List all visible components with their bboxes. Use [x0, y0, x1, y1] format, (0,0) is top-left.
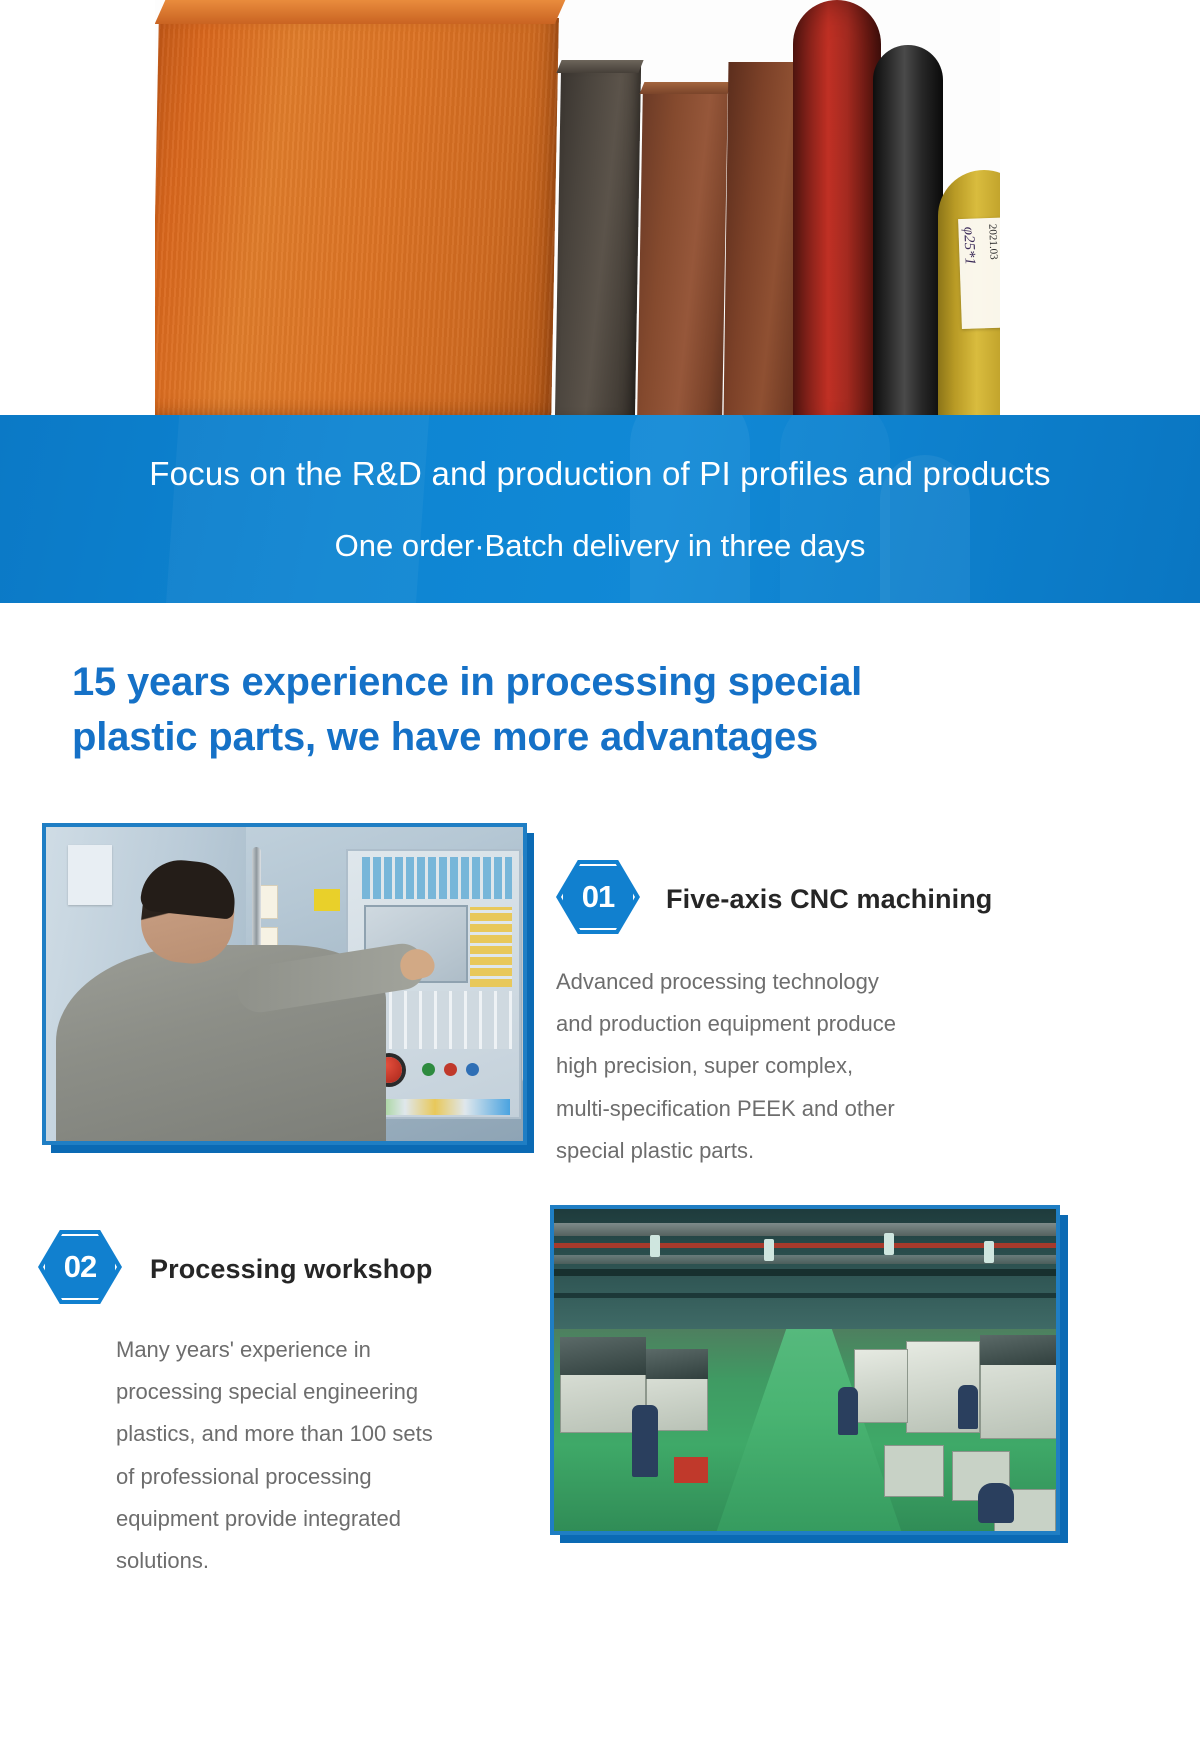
feature-01-header: 01 Five-axis CNC machining [556, 860, 1068, 939]
ceiling-light [984, 1241, 994, 1263]
worker-figure [838, 1387, 858, 1435]
banner-headline: Focus on the R&D and production of PI pr… [0, 455, 1200, 493]
worker-figure [632, 1405, 658, 1477]
feature-02-line: processing special engineering [116, 1371, 538, 1413]
feature-01-description: Advanced processing technology and produ… [556, 961, 1068, 1172]
feature-01-photo [42, 823, 527, 1145]
cnc-keypad-right [470, 907, 512, 987]
ceiling-duct [554, 1255, 1056, 1264]
feature-02-text-block: 02 Processing workshop Many years' exper… [38, 1230, 538, 1582]
banner-ghost-shape [780, 415, 890, 603]
rod-label-spec: φ25*1 [959, 226, 977, 265]
feature-01-line: and production equipment produce [556, 1003, 1068, 1045]
black-rod [873, 45, 943, 430]
ceiling-light [884, 1233, 894, 1255]
cnc-green-button [422, 1063, 435, 1076]
orange-phenolic-sheet [155, 18, 559, 418]
cnc-machine-top [646, 1349, 708, 1379]
page-title-line-1: 15 years experience in processing specia… [72, 655, 1082, 710]
cnc-door-handle [522, 853, 527, 1083]
hero-product-photo: 2021.03 φ25*1 [155, 0, 1000, 430]
orange-sheet-top-edge [155, 0, 565, 24]
cnc-machine-top [980, 1335, 1060, 1365]
feature-02-header: 02 Processing workshop [38, 1230, 538, 1309]
ceiling-light [650, 1235, 660, 1257]
page-title: 15 years experience in processing specia… [72, 655, 1082, 765]
feature-02-line: solutions. [116, 1540, 538, 1582]
brown-sheet [637, 88, 728, 418]
feature-01-line: special plastic parts. [556, 1130, 1068, 1172]
ceiling-duct [554, 1223, 1056, 1236]
red-tool-cart [674, 1457, 708, 1483]
banner-subline: One order·Batch delivery in three days [0, 528, 1200, 564]
cnc-blue-button [466, 1063, 479, 1076]
ceiling-beam [554, 1293, 1056, 1298]
feature-01-badge: 01 [556, 860, 640, 939]
feature-01-title: Five-axis CNC machining [666, 884, 992, 915]
slogan-banner: Focus on the R&D and production of PI pr… [0, 415, 1200, 603]
feature-01-number: 01 [556, 860, 640, 934]
rod-label-code: 2021.03 [986, 224, 999, 260]
feature-02-title: Processing workshop [150, 1254, 432, 1285]
worker-figure [978, 1483, 1014, 1523]
cnc-red-button [444, 1063, 457, 1076]
cnc-keypad-top [362, 857, 512, 899]
ceiling-light [764, 1239, 774, 1261]
feature-02-line: equipment provide integrated [116, 1498, 538, 1540]
ceiling-pipe [554, 1243, 1056, 1248]
grey-sheet-top-edge [556, 60, 643, 73]
feature-01-line: multi-specification PEEK and other [556, 1088, 1068, 1130]
banner-ghost-shape [630, 415, 750, 603]
dark-brown-sheet [724, 62, 801, 418]
brown-sheet-top-edge [640, 82, 733, 94]
feature-02-number: 02 [38, 1230, 122, 1304]
feature-02-line: of professional processing [116, 1456, 538, 1498]
cnc-machine [854, 1349, 908, 1423]
banner-ghost-shape [165, 415, 435, 603]
rod-spec-label: 2021.03 φ25*1 [958, 217, 1000, 329]
material-cart [884, 1445, 944, 1497]
cnc-machine-top [560, 1337, 646, 1375]
page-title-line-2: plastic parts, we have more advantages [72, 710, 1082, 765]
grey-sheet [555, 66, 641, 418]
feature-02-description: Many years' experience in processing spe… [38, 1329, 538, 1582]
ceiling-beam [554, 1269, 1056, 1276]
cnc-yellow-sticker [314, 889, 340, 911]
hero-section: 2021.03 φ25*1 [0, 0, 1200, 430]
feature-02-line: Many years' experience in [116, 1329, 538, 1371]
worker-figure [958, 1385, 978, 1429]
feature-02-photo [550, 1205, 1060, 1535]
feature-01-line: Advanced processing technology [556, 961, 1068, 1003]
feature-02-line: plastics, and more than 100 sets [116, 1413, 538, 1455]
feature-02-badge: 02 [38, 1230, 122, 1309]
feature-01-line: high precision, super complex, [556, 1045, 1068, 1087]
feature-01-text-block: 01 Five-axis CNC machining Advanced proc… [556, 860, 1068, 1172]
red-rod [793, 0, 881, 430]
